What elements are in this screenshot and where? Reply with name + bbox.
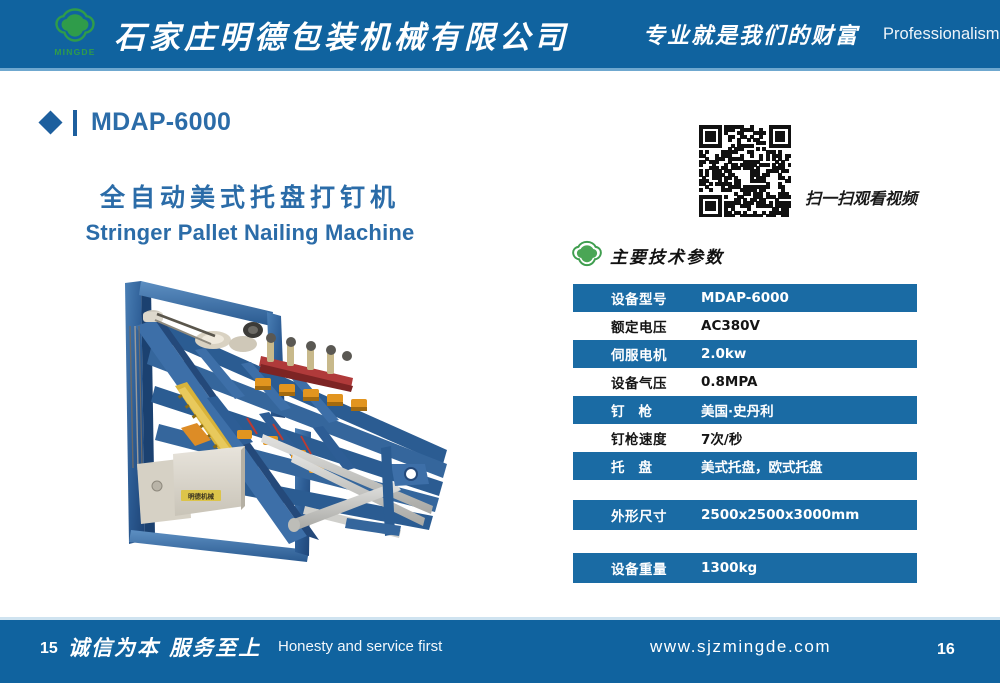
product-title-en: Stringer Pallet Nailing Machine bbox=[0, 220, 500, 246]
spec-row-key: 额定电压 bbox=[573, 316, 701, 336]
blossom-logo-icon bbox=[55, 8, 95, 46]
blossom-logo-icon bbox=[572, 240, 602, 270]
spec-row-value: AC380V bbox=[701, 318, 760, 334]
page-number-left: 15 bbox=[40, 640, 58, 658]
footer-website-link[interactable]: www.sjzmingde.com bbox=[650, 637, 831, 657]
spec-row-key: 设备型号 bbox=[573, 288, 701, 308]
spec-row: 外形尺寸2500x2500x3000mm bbox=[573, 500, 917, 530]
spec-section-title: 主要技术参数 bbox=[610, 243, 724, 268]
product-photo: 明德机械 bbox=[95, 268, 465, 563]
spec-row-key: 外形尺寸 bbox=[573, 505, 701, 525]
svg-text:明德机械: 明德机械 bbox=[188, 492, 215, 501]
header-slogan-en: Professionalism is our wealth bbox=[883, 25, 1000, 44]
spec-row-value: 7次/秒 bbox=[701, 428, 742, 448]
company-logo: MINGDE bbox=[52, 8, 98, 60]
spec-row: 设备重量1300kg bbox=[573, 553, 917, 583]
spec-row-value: 2500x2500x3000mm bbox=[701, 507, 859, 523]
spec-row-value: 2.0kw bbox=[701, 346, 746, 362]
spec-row: 钉枪美国·史丹利 bbox=[573, 396, 917, 424]
qr-code-icon[interactable] bbox=[699, 125, 791, 217]
spec-row: 托盘美式托盘，欧式托盘 bbox=[573, 452, 917, 480]
header-underline bbox=[0, 68, 1000, 71]
spec-row: 额定电压AC380V bbox=[573, 312, 917, 340]
footer-slogan-cn: 诚信为本 服务至上 bbox=[68, 632, 261, 662]
diamond-bullet-icon bbox=[38, 110, 62, 134]
spec-row-key: 设备气压 bbox=[573, 372, 701, 392]
spec-extra-dimensions: 外形尺寸2500x2500x3000mm bbox=[573, 500, 917, 530]
spec-row-value: 美式托盘，欧式托盘 bbox=[701, 456, 823, 476]
page-number-right: 16 bbox=[937, 641, 955, 659]
vertical-rule bbox=[73, 110, 77, 136]
spec-row: 钉枪速度7次/秒 bbox=[573, 424, 917, 452]
qr-block: 扫一扫观看视频 bbox=[699, 125, 917, 217]
spec-row-key: 钉枪 bbox=[573, 400, 701, 420]
spec-table: 设备型号MDAP-6000额定电压AC380V伺服电机2.0kw设备气压0.8M… bbox=[573, 284, 917, 480]
product-title-block: 全自动美式托盘打钉机 Stringer Pallet Nailing Machi… bbox=[0, 178, 500, 246]
footer-slogan-en: Honesty and service first bbox=[278, 638, 442, 655]
model-heading: MDAP-6000 bbox=[42, 108, 231, 137]
product-title-cn: 全自动美式托盘打钉机 bbox=[0, 178, 500, 214]
spec-row: 伺服电机2.0kw bbox=[573, 340, 917, 368]
company-name-cn: 石家庄明德包装机械有限公司 bbox=[114, 12, 569, 57]
brand-block: MINGDE 石家庄明德包装机械有限公司 bbox=[52, 8, 569, 60]
spec-row: 设备气压0.8MPA bbox=[573, 368, 917, 396]
spec-row-value: 0.8MPA bbox=[701, 374, 757, 390]
spec-extra-weight: 设备重量1300kg bbox=[573, 553, 917, 583]
spec-row-key: 设备重量 bbox=[573, 558, 701, 578]
spec-row-value: MDAP-6000 bbox=[701, 290, 789, 306]
spec-row: 设备型号MDAP-6000 bbox=[573, 284, 917, 312]
spec-section-header: 主要技术参数 bbox=[572, 240, 724, 270]
spec-row-key: 钉枪速度 bbox=[573, 428, 701, 448]
model-code-label: MDAP-6000 bbox=[91, 108, 231, 137]
qr-caption: 扫一扫观看视频 bbox=[805, 185, 917, 209]
page-header: MINGDE 石家庄明德包装机械有限公司 专业就是我们的财富 Professio… bbox=[0, 0, 1000, 68]
spec-row-key: 托盘 bbox=[573, 456, 701, 476]
logo-subtext: MINGDE bbox=[54, 47, 95, 57]
spec-row-value: 1300kg bbox=[701, 560, 757, 576]
header-slogan-cn: 专业就是我们的财富 bbox=[643, 18, 859, 50]
spec-row-value: 美国·史丹利 bbox=[701, 400, 774, 420]
spec-row-key: 伺服电机 bbox=[573, 344, 701, 364]
